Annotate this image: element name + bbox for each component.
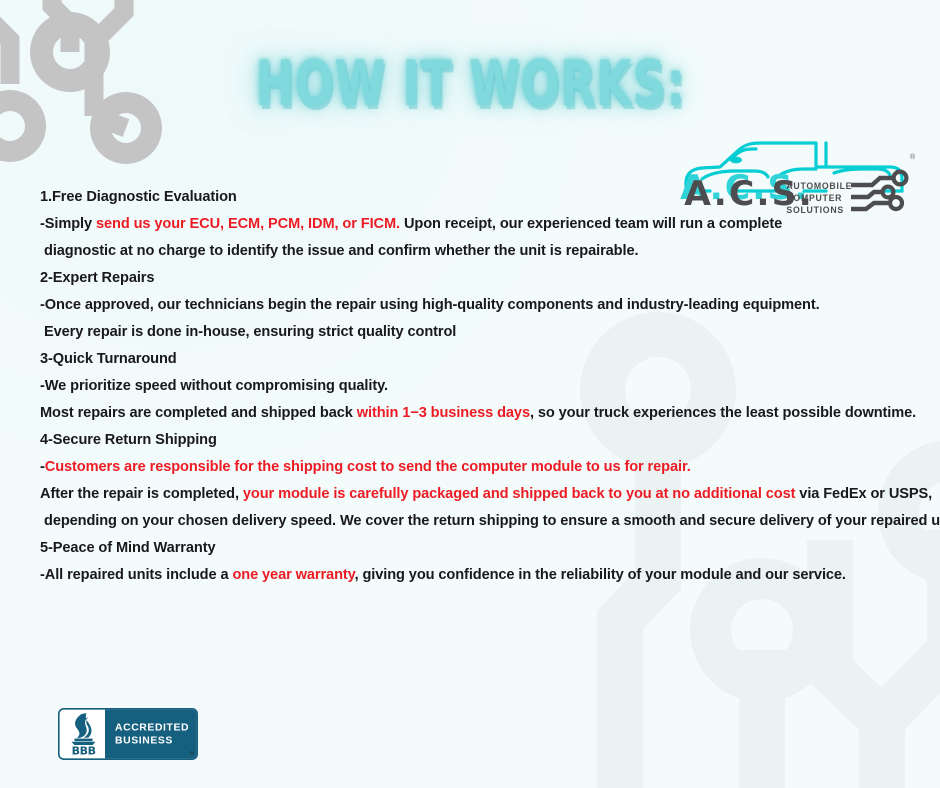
body-text: -Once approved, our technicians begin th… xyxy=(40,297,820,313)
body-text: Most repairs are completed and shipped b… xyxy=(40,405,357,421)
highlighted-text: one year warranty xyxy=(232,567,354,583)
step-heading: 3-Quick Turnaround xyxy=(40,346,920,373)
step-body-line: -We prioritize speed without compromisin… xyxy=(40,373,920,400)
step-body-line: -All repaired units include a one year w… xyxy=(40,562,920,589)
body-text: via FedEx or USPS, xyxy=(795,486,932,502)
step-heading: 5-Peace of Mind Warranty xyxy=(40,535,920,562)
body-text: depending on your chosen delivery speed.… xyxy=(44,513,940,529)
body-text: Upon receipt, our experienced team will … xyxy=(400,216,782,232)
body-text: -We prioritize speed without compromisin… xyxy=(40,378,388,394)
body-text: Every repair is done in-house, ensuring … xyxy=(44,324,456,340)
bbb-line-1: ACCREDITED xyxy=(115,723,189,734)
page-title-wrapper: HOW IT WORKS: xyxy=(0,47,940,120)
highlighted-text: Customers are responsible for the shippi… xyxy=(45,459,691,475)
body-text: After the repair is completed, xyxy=(40,486,243,502)
body-text: -All repaired units include a xyxy=(40,567,232,583)
how-it-works-page: HOW IT WORKS: ® A.C.S. A.C.S. xyxy=(0,0,940,788)
highlighted-text: within 1−3 business days xyxy=(357,405,530,421)
bbb-trademark: ® xyxy=(190,750,194,757)
bbb-accredited-business-badge[interactable]: BBB ACCREDITED BUSINESS ® xyxy=(58,708,198,760)
step-body-line: depending on your chosen delivery speed.… xyxy=(40,508,920,535)
step-body-line: -Customers are responsible for the shipp… xyxy=(40,454,920,481)
steps-list: 1.Free Diagnostic Evaluation-Simply send… xyxy=(40,184,920,589)
step-heading: 1.Free Diagnostic Evaluation xyxy=(40,184,920,211)
trademark-symbol: ® xyxy=(910,153,916,161)
highlighted-text: send us your ECU, ECM, PCM, IDM, or FICM… xyxy=(96,216,400,232)
step-body-line: diagnostic at no charge to identify the … xyxy=(40,238,920,265)
page-title: HOW IT WORKS: xyxy=(255,47,685,120)
step-body-line: -Simply send us your ECU, ECM, PCM, IDM,… xyxy=(40,211,920,238)
body-text: , so your truck experiences the least po… xyxy=(530,405,916,421)
step-body-line: -Once approved, our technicians begin th… xyxy=(40,292,920,319)
step-body-line: After the repair is completed, your modu… xyxy=(40,481,920,508)
highlighted-text: your module is carefully packaged and sh… xyxy=(243,486,795,502)
bbb-mark: BBB xyxy=(72,745,96,758)
body-text: diagnostic at no charge to identify the … xyxy=(44,243,638,259)
step-heading: 2-Expert Repairs xyxy=(40,265,920,292)
step-body-line: Every repair is done in-house, ensuring … xyxy=(40,319,920,346)
body-text: , giving you confidence in the reliabili… xyxy=(355,567,846,583)
step-heading: 4-Secure Return Shipping xyxy=(40,427,920,454)
body-text: -Simply xyxy=(40,216,96,232)
bbb-line-2: BUSINESS xyxy=(115,736,173,747)
step-body-line: Most repairs are completed and shipped b… xyxy=(40,400,920,427)
